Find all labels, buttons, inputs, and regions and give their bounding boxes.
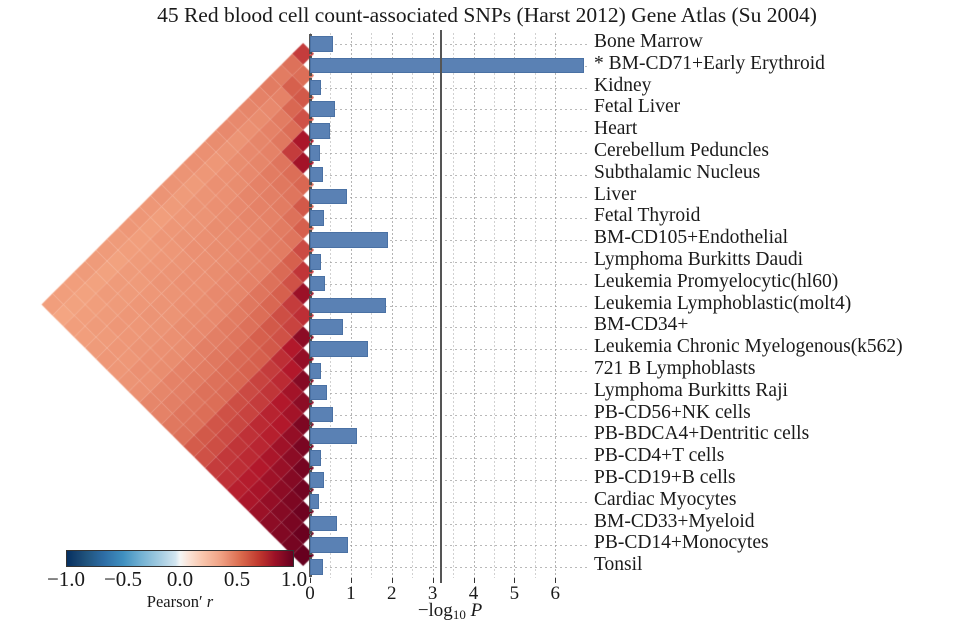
bar[interactable] (310, 36, 333, 52)
bar-row[interactable] (310, 273, 590, 295)
tissue-label[interactable]: PB-CD56+NK cells (594, 402, 751, 424)
bar[interactable] (310, 319, 343, 335)
tissue-label[interactable]: Heart (594, 118, 637, 140)
tissue-label[interactable]: Fetal Thyroid (594, 205, 700, 227)
bar[interactable] (310, 428, 357, 444)
x-axis-title-variable: P (471, 600, 483, 621)
tissue-label[interactable]: Cerebellum Peduncles (594, 140, 769, 162)
colorbar-legend: −1.0−0.50.00.51.0 (66, 550, 294, 593)
tissue-label[interactable]: Bone Marrow (594, 31, 703, 53)
bar-row[interactable] (310, 229, 590, 251)
tissue-label-list: Bone Marrow* BM-CD71+Early ErythroidKidn… (594, 31, 974, 591)
bar-row[interactable] (310, 142, 590, 164)
bar-row[interactable] (310, 491, 590, 513)
bar[interactable] (310, 145, 320, 161)
tissue-label[interactable]: Kidney (594, 75, 651, 97)
bar[interactable] (310, 232, 388, 248)
bar[interactable] (310, 385, 327, 401)
colorbar-gradient (66, 550, 294, 567)
bar[interactable] (310, 298, 386, 314)
bar-row[interactable] (310, 77, 590, 99)
bar[interactable] (310, 407, 333, 423)
tissue-label[interactable]: BM-CD33+Myeloid (594, 511, 755, 533)
bar-row[interactable] (310, 338, 590, 360)
tissue-label[interactable]: BM-CD34+ (594, 314, 688, 336)
tissue-label[interactable]: PB-CD4+T cells (594, 445, 724, 467)
tissue-label[interactable]: Fetal Liver (594, 96, 680, 118)
bar-row[interactable] (310, 251, 590, 273)
bar[interactable] (310, 276, 325, 292)
correlation-heatmap (26, 30, 314, 575)
bar-row[interactable] (310, 120, 590, 142)
x-axis-title-subscript: 10 (453, 607, 466, 622)
tissue-label[interactable]: Leukemia Chronic Myelogenous(k562) (594, 336, 903, 358)
bar-row[interactable] (310, 513, 590, 535)
bar[interactable] (310, 167, 323, 183)
bar[interactable] (310, 123, 330, 139)
bar-row[interactable] (310, 316, 590, 338)
tissue-label[interactable]: Lymphoma Burkitts Raji (594, 380, 788, 402)
bar-row[interactable] (310, 55, 590, 77)
tissue-label[interactable]: Liver (594, 184, 636, 206)
bar-row[interactable] (310, 360, 590, 382)
tissue-label[interactable]: Lymphoma Burkitts Daudi (594, 249, 803, 271)
correlation-heatmap-canvas (26, 30, 314, 575)
colorbar-title-text: Pearson (147, 592, 199, 611)
bar[interactable] (310, 58, 584, 74)
bar[interactable] (310, 516, 337, 532)
bar[interactable] (310, 254, 321, 270)
tissue-label[interactable]: Leukemia Lymphoblastic(molt4) (594, 293, 851, 315)
bar[interactable] (310, 472, 324, 488)
bar-row[interactable] (310, 33, 590, 55)
bar-row[interactable] (310, 534, 590, 556)
bar-row[interactable] (310, 556, 590, 578)
x-axis: 0123456 (310, 578, 590, 602)
tissue-label[interactable]: PB-CD19+B cells (594, 467, 736, 489)
bar-row[interactable] (310, 425, 590, 447)
significance-threshold-line (440, 30, 442, 583)
tissue-label[interactable]: 721 B Lymphoblasts (594, 358, 755, 380)
tissue-label[interactable]: Tonsil (594, 554, 642, 576)
bar[interactable] (310, 80, 321, 96)
figure-root: 45 Red blood cell count-associated SNPs … (0, 0, 974, 635)
bar-row[interactable] (310, 207, 590, 229)
tissue-label[interactable]: Subthalamic Nucleus (594, 162, 760, 184)
colorbar-tick-labels: −1.0−0.50.00.51.0 (66, 567, 294, 593)
bar-row[interactable] (310, 447, 590, 469)
bar-row[interactable] (310, 382, 590, 404)
colorbar-tick-label: 0.0 (167, 567, 193, 592)
colorbar-tick-label: 1.0 (281, 567, 307, 592)
tissue-label[interactable]: PB-BDCA4+Dentritic cells (594, 423, 809, 445)
tissue-label[interactable]: Leukemia Promyelocytic(hl60) (594, 271, 838, 293)
bar[interactable] (310, 189, 347, 205)
bar[interactable] (310, 537, 348, 553)
colorbar-tick-label: −0.5 (104, 567, 142, 592)
tissue-label[interactable]: PB-CD14+Monocytes (594, 532, 769, 554)
bar-row[interactable] (310, 186, 590, 208)
bar[interactable] (310, 341, 368, 357)
x-axis-title-prefix: −log (418, 600, 453, 621)
colorbar-title-apostrophe: ′ (199, 592, 203, 611)
figure-title: 45 Red blood cell count-associated SNPs … (0, 2, 974, 28)
colorbar-title: Pearson′ r (66, 592, 294, 612)
bar-chart-panel (310, 33, 590, 578)
bar-row[interactable] (310, 469, 590, 491)
bar[interactable] (310, 101, 335, 117)
bar-row[interactable] (310, 164, 590, 186)
colorbar-tick-label: −1.0 (47, 567, 85, 592)
colorbar-title-variable: r (207, 592, 213, 611)
tissue-label[interactable]: * BM-CD71+Early Erythroid (594, 53, 825, 75)
bar-row[interactable] (310, 295, 590, 317)
colorbar-tick-label: 0.5 (224, 567, 250, 592)
x-axis-title: −log10 P (310, 600, 590, 623)
bar[interactable] (310, 363, 321, 379)
bar[interactable] (310, 559, 323, 575)
bar-row[interactable] (310, 98, 590, 120)
bar[interactable] (310, 494, 319, 510)
bar[interactable] (310, 450, 321, 466)
bar[interactable] (310, 210, 324, 226)
bar-row[interactable] (310, 404, 590, 426)
tissue-label[interactable]: BM-CD105+Endothelial (594, 227, 788, 249)
tissue-label[interactable]: Cardiac Myocytes (594, 489, 736, 511)
